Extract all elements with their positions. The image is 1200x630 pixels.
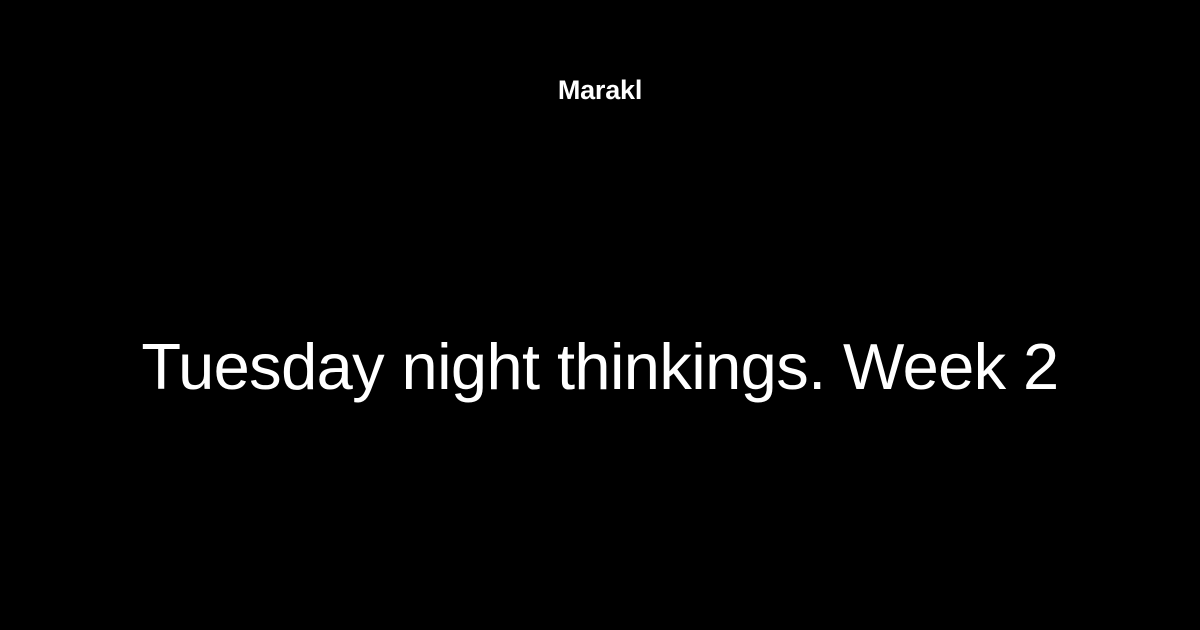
site-name-container: Marakl <box>0 0 1200 130</box>
social-share-card: Marakl Tuesday night thinkings. Week 2 <box>0 0 1200 630</box>
site-name: Marakl <box>558 77 642 104</box>
headline-container: Tuesday night thinkings. Week 2 <box>0 130 1200 630</box>
page-title: Tuesday night thinkings. Week 2 <box>141 331 1058 404</box>
